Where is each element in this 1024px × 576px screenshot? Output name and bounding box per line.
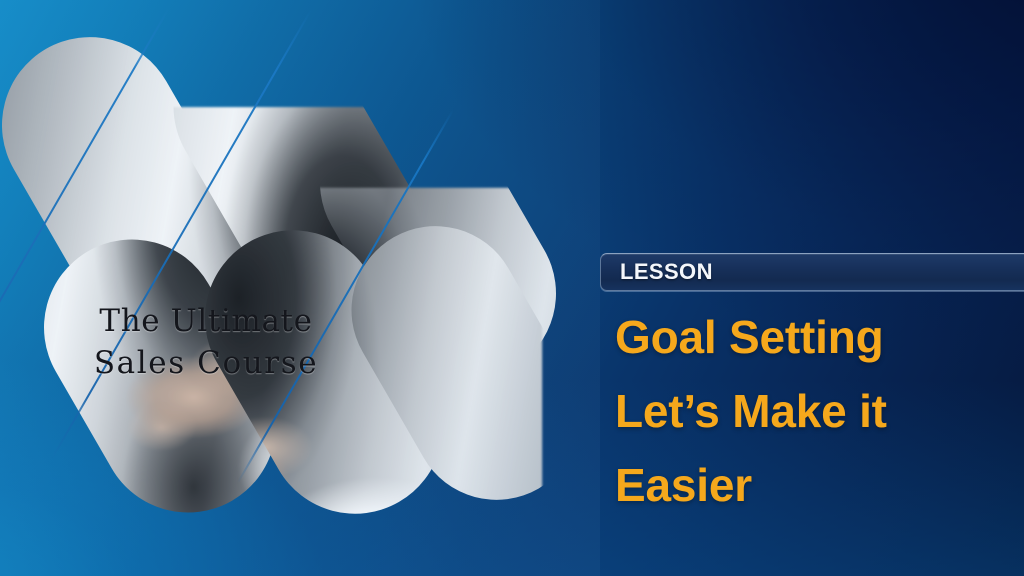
lesson-title-line-3: Easier bbox=[615, 448, 1015, 522]
course-wordmark: The Ultimate Sales Course bbox=[56, 300, 356, 384]
pinwheel-photo-collage bbox=[0, 0, 600, 576]
course-wordmark-line-1: The Ultimate bbox=[56, 300, 356, 342]
lesson-badge-label: LESSON bbox=[601, 259, 713, 285]
lesson-badge: LESSON bbox=[600, 253, 1024, 291]
course-wordmark-line-2: Sales Course bbox=[56, 342, 356, 384]
lesson-title-line-1: Goal Setting bbox=[615, 300, 1015, 374]
lesson-title-slide: The Ultimate Sales Course LESSON Goal Se… bbox=[0, 0, 1024, 576]
lesson-title: Goal Setting Let’s Make it Easier bbox=[615, 300, 1015, 522]
lesson-title-line-2: Let’s Make it bbox=[615, 374, 1015, 448]
